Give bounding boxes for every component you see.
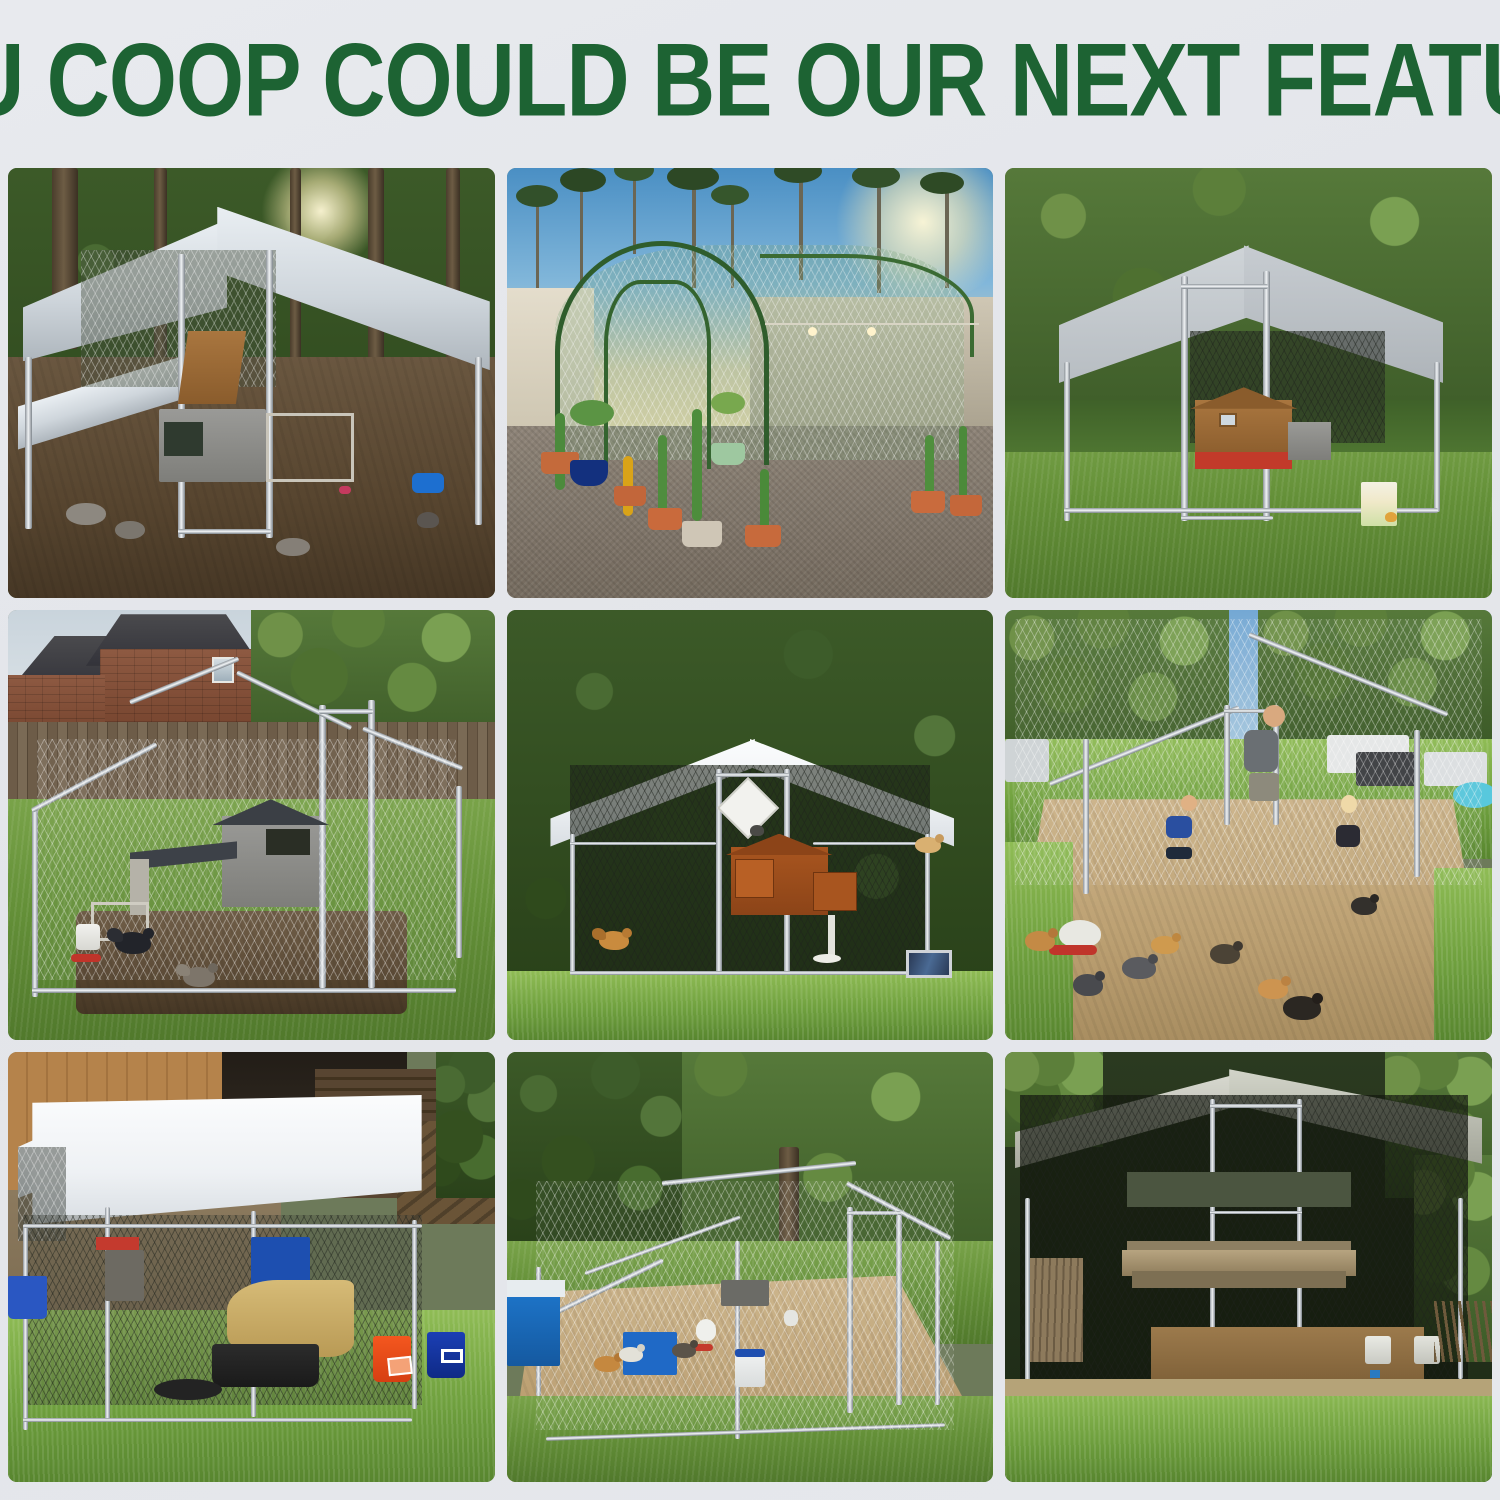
photo-grid: Walk-in metal chicken coop with gray tar… xyxy=(8,168,1492,1482)
hen-house-door xyxy=(735,859,774,898)
feeder-drum xyxy=(1059,920,1101,948)
waterer-detail xyxy=(1370,1370,1380,1378)
blue-house-roof xyxy=(507,1280,565,1297)
door-post xyxy=(1224,705,1230,825)
nest-box xyxy=(813,872,857,911)
corner-post xyxy=(475,357,482,525)
succulent xyxy=(711,392,745,414)
terracotta-pot xyxy=(911,491,945,513)
corner-post xyxy=(25,357,32,529)
man-head xyxy=(1263,705,1285,727)
tarp-roof-main xyxy=(32,1095,421,1224)
string-light-wire xyxy=(765,323,979,325)
wire-mesh xyxy=(536,1181,955,1430)
pink-dish xyxy=(339,486,351,494)
sign-rooster-graphic xyxy=(750,825,764,836)
feeder-pole xyxy=(828,915,835,958)
hutch-run xyxy=(266,413,354,482)
cactus-tall xyxy=(692,409,702,521)
mid-rail xyxy=(813,842,930,845)
photo-cell-7[interactable]: Coop with bright white tarp roof beside … xyxy=(8,1052,495,1482)
terracotta-pot xyxy=(648,508,682,530)
hen-house-vent xyxy=(266,829,310,855)
headline-banner: YOU COOP COULD BE OUR NEXT FEATURE xyxy=(0,0,1500,160)
top-rail xyxy=(23,1224,422,1228)
grass-edge-right xyxy=(1434,868,1492,1040)
palm-fronds xyxy=(560,168,606,192)
ceramic-pot xyxy=(682,521,722,547)
branches xyxy=(1434,1301,1492,1361)
photo-cell-1[interactable]: Walk-in metal chicken coop with gray tar… xyxy=(8,168,495,598)
corner-post xyxy=(570,834,575,976)
red-object xyxy=(96,1237,140,1250)
man-shorts xyxy=(1249,773,1279,801)
wooden-gate xyxy=(1030,1258,1084,1361)
base-rail xyxy=(23,1418,412,1422)
folding-chair xyxy=(721,1280,770,1306)
string-light-bulb xyxy=(867,327,876,336)
door-sill xyxy=(1181,516,1273,520)
bucket-feeder xyxy=(735,1353,765,1387)
rock xyxy=(115,521,145,539)
photo-cell-3[interactable]: Large walk-in chicken coop with silver s… xyxy=(1005,168,1492,598)
photo-cell-8[interactable]: Bare galvanized coop frame in a shaded y… xyxy=(507,1052,994,1482)
photo-9-scene xyxy=(1005,1052,1492,1482)
mid-rail xyxy=(570,842,716,845)
black-tub xyxy=(212,1344,319,1387)
solar-panel xyxy=(906,950,952,978)
lawn xyxy=(507,971,994,1040)
photo-cell-6[interactable]: Wide open-frame walk-in run with a man a… xyxy=(1005,610,1492,1040)
photo-8-scene xyxy=(507,1052,994,1482)
hutch-open-lid xyxy=(178,331,247,404)
photo-4-scene xyxy=(8,610,495,1040)
base-rail xyxy=(570,971,930,975)
photo-cell-5[interactable]: Coop with white peaked roof and a diamon… xyxy=(507,610,994,1040)
home-depot-logo xyxy=(387,1356,413,1376)
nest-box xyxy=(1288,422,1332,461)
photo-7-scene xyxy=(8,1052,495,1482)
chicken-waterer xyxy=(76,924,100,950)
door-header xyxy=(319,709,373,714)
corner-post xyxy=(412,1220,417,1409)
door-header xyxy=(716,773,789,777)
base-rail xyxy=(32,988,455,993)
roost-board-top xyxy=(1127,1172,1351,1206)
terracotta-pot xyxy=(614,486,646,506)
terracotta-pot xyxy=(950,495,982,516)
celadon-pot xyxy=(711,443,745,465)
corner-post xyxy=(1064,362,1070,521)
photo-2-scene xyxy=(507,168,994,598)
shrub xyxy=(436,1052,494,1198)
photo-5-scene xyxy=(507,610,994,1040)
photo-cell-4[interactable]: Uncovered galvanized coop frame in a sub… xyxy=(8,610,495,1040)
photo-cell-9[interactable]: Shaded walk-in coop with mesh walls and … xyxy=(1005,1052,1492,1482)
terracotta-pot xyxy=(745,525,781,547)
photo-cell-2[interactable]: Arched green mesh enclosure surrounded b… xyxy=(507,168,994,598)
boy-shorts xyxy=(1166,847,1192,859)
photo-3-scene xyxy=(1005,168,1492,598)
waterer xyxy=(1365,1336,1391,1364)
palm-plant xyxy=(570,400,614,426)
waterer-base xyxy=(71,954,101,962)
door-sill xyxy=(178,529,270,534)
door-post xyxy=(1181,276,1188,521)
blue-bucket-left xyxy=(8,1276,47,1319)
palm-trunk xyxy=(945,181,949,289)
lawn xyxy=(1005,1387,1492,1482)
promo-collage-page: YOU COOP COULD BE OUR NEXT FEATURE xyxy=(0,0,1500,1500)
corner-post xyxy=(1083,739,1089,894)
hen-house-window xyxy=(1219,413,1237,427)
blue-hen-house xyxy=(507,1293,561,1366)
blue-tub xyxy=(412,473,444,493)
girl-hair xyxy=(1341,795,1357,813)
rabbit xyxy=(417,512,439,528)
boy-shirt xyxy=(1166,816,1192,838)
roost-plank-lower xyxy=(1132,1271,1346,1288)
hanging-feeder xyxy=(696,1319,716,1341)
feeder-base xyxy=(1049,945,1097,955)
lowes-logo xyxy=(441,1349,463,1363)
blue-glazed-pot xyxy=(570,460,608,486)
door-post xyxy=(716,769,722,975)
feed-bag-chicken-graphic xyxy=(1385,512,1397,522)
door-header xyxy=(1181,284,1269,289)
page-title: YOU COOP COULD BE OUR NEXT FEATURE xyxy=(0,28,1500,132)
door-header xyxy=(1210,1104,1302,1108)
photo-1-scene xyxy=(8,168,495,598)
man-shirt xyxy=(1244,730,1278,772)
door-post xyxy=(266,250,273,538)
rock xyxy=(276,538,310,556)
hutch-mesh-panel xyxy=(164,422,203,456)
door-mid-rail xyxy=(1210,1211,1302,1214)
bucket-lid xyxy=(735,1349,765,1357)
corner-post xyxy=(1414,730,1420,876)
corner-post xyxy=(1434,362,1440,513)
boy-head xyxy=(1181,795,1197,811)
base-board xyxy=(1005,1379,1492,1396)
corner-post xyxy=(23,1224,28,1430)
cactus xyxy=(959,426,967,499)
corner-post xyxy=(456,786,462,958)
hanging-waterer xyxy=(784,1310,798,1326)
hen-house-base xyxy=(1195,452,1292,469)
photo-6-scene xyxy=(1005,610,1492,1040)
metal-bin xyxy=(105,1250,144,1302)
girl-dress xyxy=(1336,825,1360,847)
